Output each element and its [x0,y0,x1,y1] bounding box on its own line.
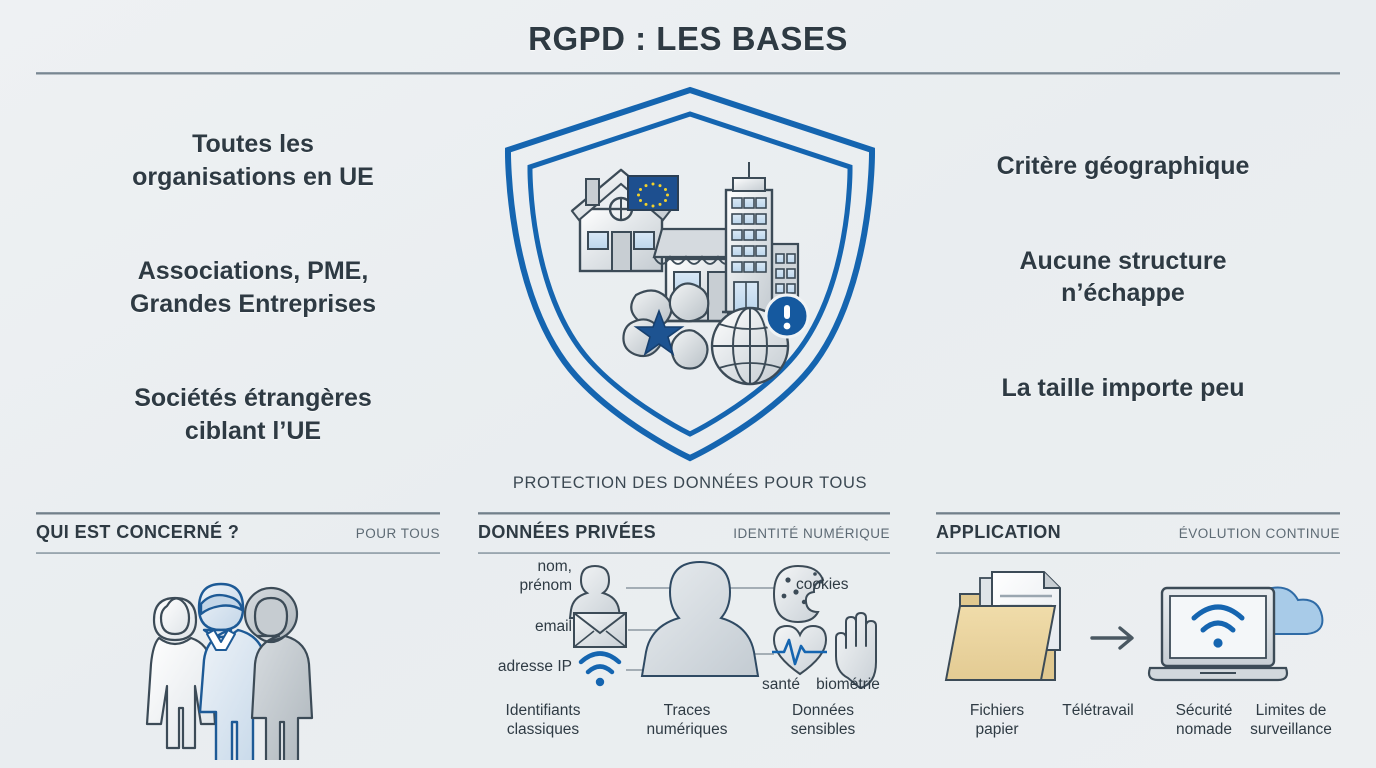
label-biometrie: biométrie [810,676,886,695]
caption-limites-surveillance: Limites de surveillance [1236,702,1346,740]
heart-pulse-icon [772,626,827,674]
section-title: APPLICATION [936,522,1061,543]
user-contact-icon [570,566,620,618]
office-buildings-icon [722,162,806,312]
application-panel: Fichiers papier Télétravail Sécurité nom… [936,554,1340,754]
statement-right-1: Critère géographique [908,150,1338,183]
section-donnees-privees: DONNÉES PRIVÉES IDENTITÉ NUMÉRIQUE [478,512,890,754]
envelope-icon [574,613,626,647]
section-title: DONNÉES PRIVÉES [478,522,656,543]
label-email: email [488,618,572,637]
page-title: RGPD : LES BASES [0,20,1376,58]
shield-illustration [498,84,882,464]
label-cookies: cookies [796,576,849,595]
label-adresse-ip: adresse IP [478,658,572,677]
statement-right-2: Aucune structure n’échappe [908,245,1338,310]
statement-left-2: Associations, PME, Grandes Entreprises [38,255,468,320]
section-subtitle: POUR TOUS [356,526,440,541]
shield-caption: PROTECTION DES DONNÉES POUR TOUS [460,474,920,493]
title-divider [36,72,1340,75]
section-qui-est-concerne: QUI EST CONCERNÉ ? POUR TOUS [36,512,440,754]
laptop-wifi-icon [1149,588,1287,680]
eu-flag-icon [628,176,678,210]
section-title: QUI EST CONCERNÉ ? [36,522,239,543]
section-header: APPLICATION ÉVOLUTION CONTINUE [936,515,1340,547]
section-subtitle: ÉVOLUTION CONTINUE [1179,526,1340,541]
statement-left-3: Sociétés étrangères ciblant l’UE [38,382,468,447]
left-statements-column: Toutes les organisations en UE Associati… [38,128,468,447]
folder-documents-icon [946,572,1060,680]
person-silhouette-icon [642,562,758,676]
private-data-panel: nom, prénom email adresse IP cookies san… [478,554,890,754]
infographic-page: RGPD : LES BASES Toutes les organisation… [0,0,1376,768]
wifi-icon [581,654,619,686]
label-nom-prenom: nom, prénom [506,558,572,595]
right-statements-column: Critère géographique Aucune structure n’… [908,128,1338,404]
caption-fichiers-papier: Fichiers papier [942,702,1052,740]
label-sante: santé [752,676,810,695]
four-hands-star-icon [623,284,708,369]
caption-identifiants: Identifiants classiques [478,702,608,740]
section-header: DONNÉES PRIVÉES IDENTITÉ NUMÉRIQUE [478,515,890,547]
section-subtitle: IDENTITÉ NUMÉRIQUE [733,526,890,541]
statement-left-1: Toutes les organisations en UE [38,128,468,193]
caption-donnees-sensibles: Données sensibles [758,702,888,740]
caption-traces: Traces numériques [624,702,750,740]
section-header: QUI EST CONCERNÉ ? POUR TOUS [36,515,440,547]
person-afro-icon [245,588,312,760]
section-application: APPLICATION ÉVOLUTION CONTINUE [936,512,1340,754]
people-panel [36,554,440,754]
statement-right-3: La taille importe peu [908,372,1338,405]
arrow-right-icon [1092,628,1132,648]
caption-teletravail: Télétravail [1040,702,1156,721]
